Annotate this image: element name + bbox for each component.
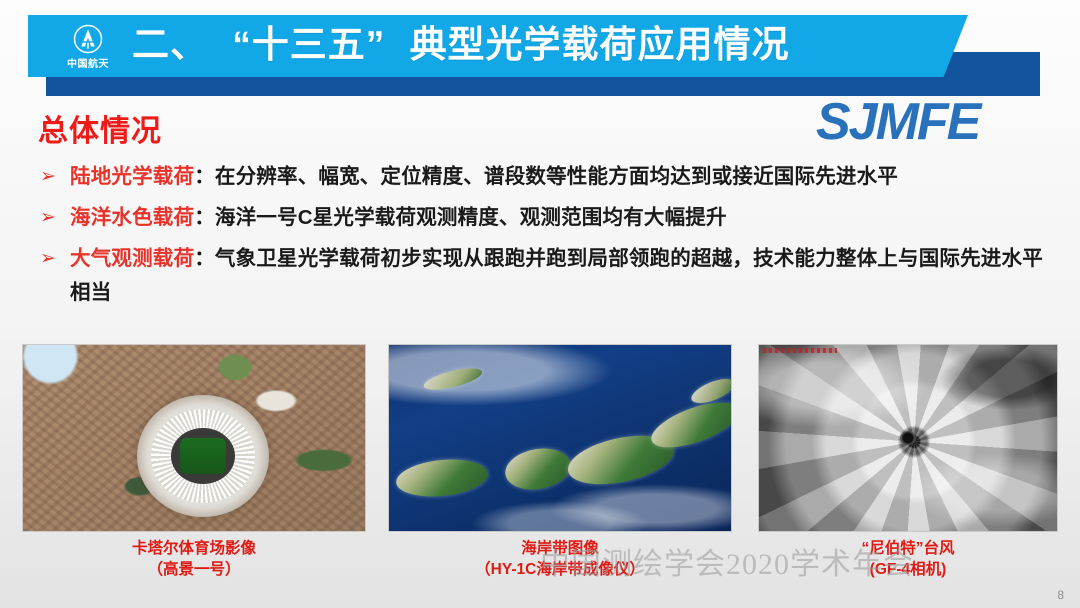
caption-line-1: 海岸带图像 <box>388 538 732 559</box>
figure-typhoon <box>758 344 1058 532</box>
bullet-text: 大气观测载荷：气象卫星光学载荷初步实现从跟跑并跑到局部领跑的超越，技术能力整体上… <box>70 242 1056 310</box>
storm-eye <box>900 431 916 445</box>
stadium-pitch <box>180 438 226 474</box>
figure-caption-stadium: 卡塔尔体育场影像 （高景一号） <box>22 538 366 580</box>
page-title-part1: 二、 <box>132 24 208 65</box>
bullet-body: ：在分辨率、幅宽、定位精度、谱段数等性能方面均达到或接近国际先进水平 <box>194 165 898 188</box>
section-title: 总体情况 <box>38 106 162 150</box>
list-item: ➢ 海洋水色载荷：海洋一号C星光学载荷观测精度、观测范围均有大幅提升 <box>36 201 1056 235</box>
satellite-image-coast <box>389 345 731 531</box>
bullet-body: ：海洋一号C星光学载荷观测精度、观测范围均有大幅提升 <box>194 206 727 229</box>
title-spacer <box>208 24 232 65</box>
arrow-bullet-icon: ➢ <box>36 160 70 194</box>
figure-caption-coast: 海岸带图像 （HY-1C海岸带成像仪） <box>388 538 732 580</box>
bullet-heading: 大气观测载荷 <box>70 247 194 270</box>
casc-logo-label: 中国航天 <box>67 55 109 70</box>
bullet-text: 海洋水色载荷：海洋一号C星光学载荷观测精度、观测范围均有大幅提升 <box>70 201 727 235</box>
casc-emblem-icon <box>73 24 103 54</box>
slide-header: SJMFE 中国航天 二、 “十三五” 典型光学载荷应用情况 <box>0 0 1080 104</box>
page-number: 8 <box>1057 588 1064 602</box>
satellite-image-typhoon <box>759 345 1057 531</box>
arrow-bullet-icon: ➢ <box>36 201 70 235</box>
caption-line-1: 卡塔尔体育场影像 <box>22 538 366 559</box>
list-item: ➢ 大气观测载荷：气象卫星光学载荷初步实现从跟跑并跑到局部领跑的超越，技术能力整… <box>36 242 1056 310</box>
brand-watermark: SJMFE <box>816 92 979 152</box>
arrow-bullet-icon: ➢ <box>36 242 70 276</box>
caption-line-2: (GF-4相机) <box>758 559 1058 580</box>
figure-qatar-stadium <box>22 344 366 532</box>
caption-line-2: （高景一号） <box>22 559 366 580</box>
title-spacer-2 <box>385 24 409 65</box>
figure-coastal-zone <box>388 344 732 532</box>
page-title-part2: “十三五” <box>232 24 385 65</box>
satellite-image-stadium <box>23 345 365 531</box>
bullet-text: 陆地光学载荷：在分辨率、幅宽、定位精度、谱段数等性能方面均达到或接近国际先进水平 <box>70 160 898 194</box>
bullet-heading: 陆地光学载荷 <box>70 165 194 188</box>
bullet-heading: 海洋水色载荷 <box>70 206 194 229</box>
stadium-shape <box>137 395 269 517</box>
list-item: ➢ 陆地光学载荷：在分辨率、幅宽、定位精度、谱段数等性能方面均达到或接近国际先进… <box>36 160 1056 194</box>
bullet-body: ：气象卫星光学载荷初步实现从跟跑并跑到局部领跑的超越，技术能力整体上与国际先进水… <box>70 247 1043 304</box>
caption-row: 卡塔尔体育场影像 （高景一号） 海岸带图像 （HY-1C海岸带成像仪） “尼伯特… <box>0 538 1080 600</box>
page-title: 二、 “十三五” 典型光学载荷应用情况 <box>132 22 790 68</box>
image-timestamp-strip <box>763 348 837 353</box>
figure-row <box>0 344 1080 534</box>
page-title-part3: 典型光学载荷应用情况 <box>410 24 790 65</box>
island-shape <box>502 444 574 495</box>
bullet-list: ➢ 陆地光学载荷：在分辨率、幅宽、定位精度、谱段数等性能方面均达到或接近国际先进… <box>36 160 1056 317</box>
caption-line-2: （HY-1C海岸带成像仪） <box>388 559 732 580</box>
island-shape <box>394 456 489 501</box>
caption-line-1: “尼伯特”台风 <box>758 538 1058 559</box>
figure-caption-typhoon: “尼伯特”台风 (GF-4相机) <box>758 538 1058 580</box>
casc-logo: 中国航天 <box>52 22 124 72</box>
island-shape <box>422 364 484 394</box>
